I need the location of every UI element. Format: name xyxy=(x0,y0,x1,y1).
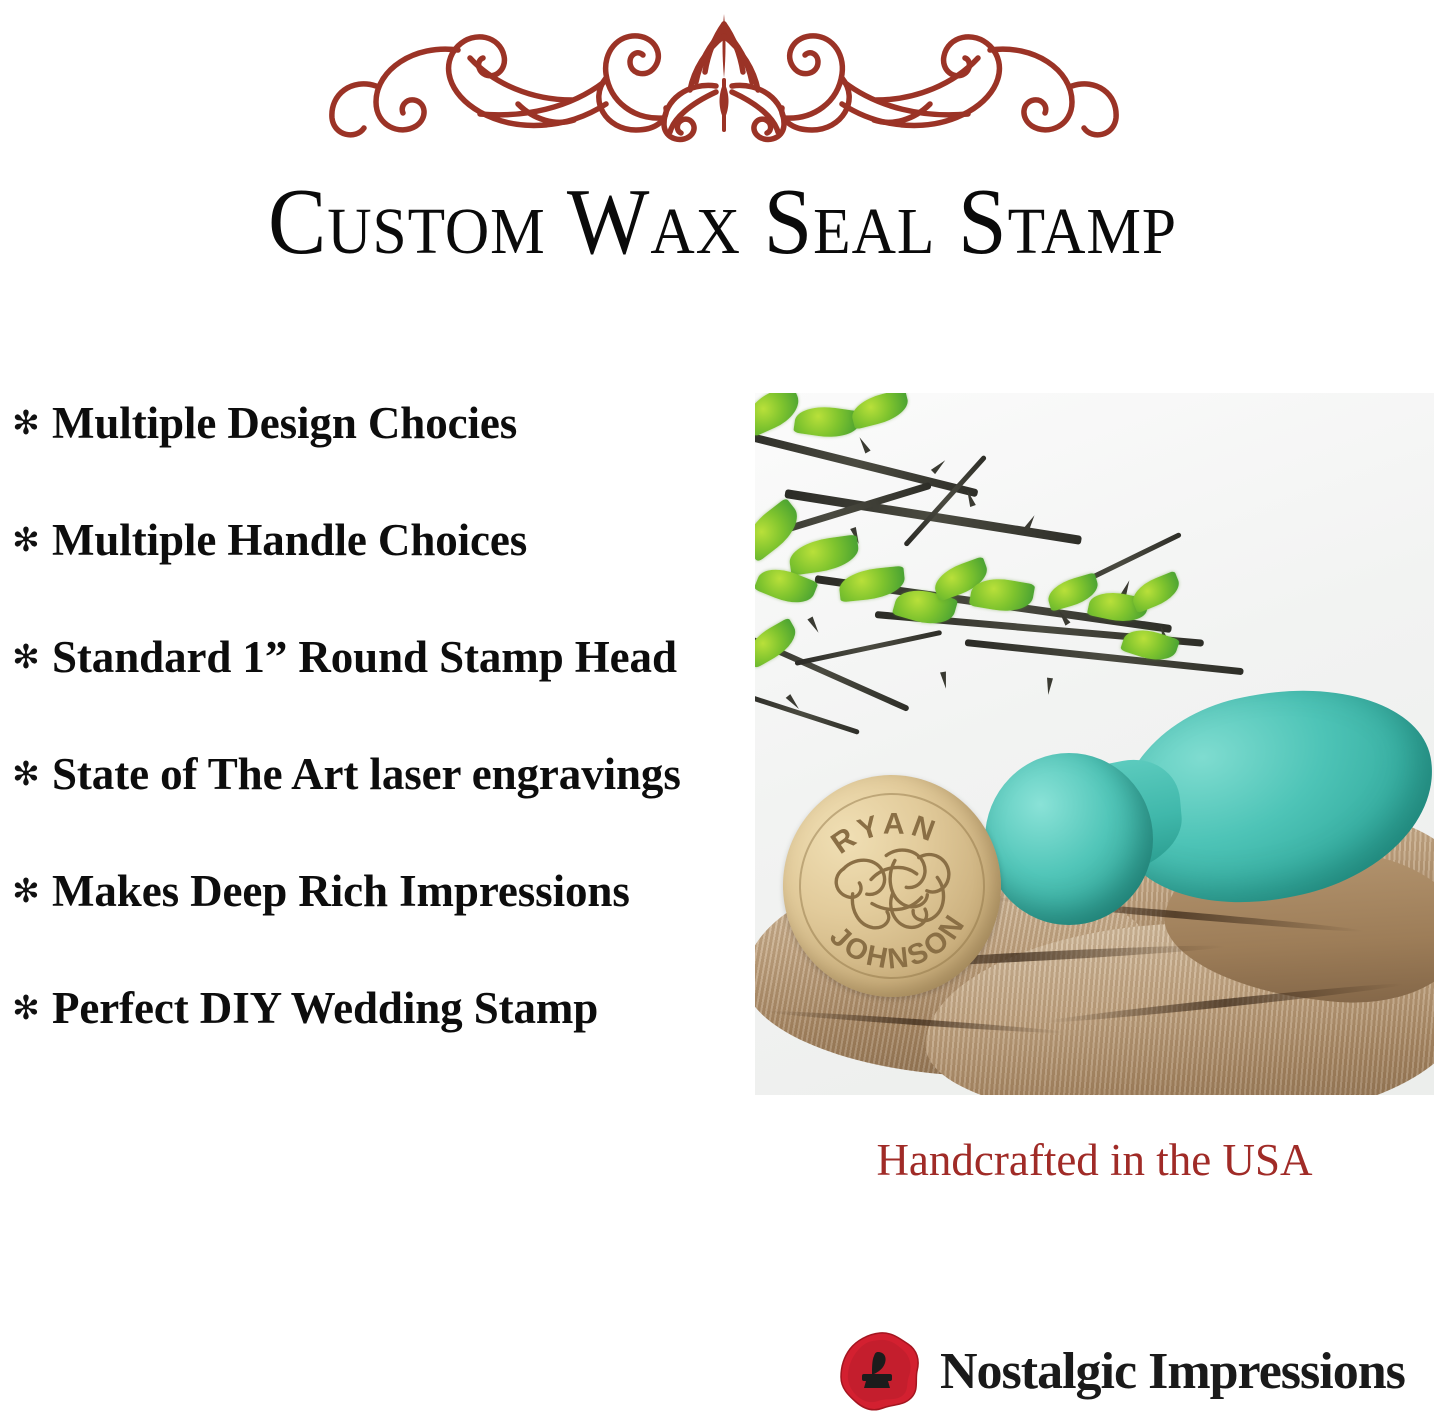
stamp-engraving: RYAN JOHNSON xyxy=(770,763,1013,1010)
asterisk-bullet-icon: ✻ xyxy=(0,991,52,1024)
feature-label: State of The Art laser engravings xyxy=(52,749,681,799)
list-item: ✻ Perfect DIY Wedding Stamp xyxy=(0,983,745,1100)
feature-label: Multiple Design Chocies xyxy=(52,398,517,448)
list-item: ✻ Multiple Design Chocies xyxy=(0,398,745,515)
filigree-flourish-icon xyxy=(318,8,1130,148)
feature-label: Perfect DIY Wedding Stamp xyxy=(52,983,598,1033)
asterisk-bullet-icon: ✻ xyxy=(0,406,52,439)
product-photo: RYAN JOHNSON xyxy=(755,393,1434,1095)
brand-footer: Nostalgic Impressions xyxy=(838,1330,1405,1414)
page-title: Custom Wax Seal Stamp xyxy=(51,168,1395,276)
feature-list: ✻ Multiple Design Chocies ✻ Multiple Han… xyxy=(0,398,745,1100)
feature-label: Standard 1” Round Stamp Head xyxy=(52,632,677,682)
stamp-head-face: RYAN JOHNSON xyxy=(770,763,1013,1010)
feature-label: Makes Deep Rich Impressions xyxy=(52,866,630,916)
asterisk-bullet-icon: ✻ xyxy=(0,874,52,907)
asterisk-bullet-icon: ✻ xyxy=(0,757,52,790)
wax-seal-logo-icon xyxy=(838,1330,922,1414)
list-item: ✻ Standard 1” Round Stamp Head xyxy=(0,632,745,749)
feature-label: Multiple Handle Choices xyxy=(52,515,527,565)
list-item: ✻ State of The Art laser engravings xyxy=(0,749,745,866)
list-item: ✻ Makes Deep Rich Impressions xyxy=(0,866,745,983)
list-item: ✻ Multiple Handle Choices xyxy=(0,515,745,632)
asterisk-bullet-icon: ✻ xyxy=(0,640,52,673)
header-ornament xyxy=(318,8,1130,148)
asterisk-bullet-icon: ✻ xyxy=(0,523,52,556)
handcrafted-caption: Handcrafted in the USA xyxy=(755,1134,1434,1186)
brand-name: Nostalgic Impressions xyxy=(940,1344,1405,1400)
engraving-bottom-text: JOHNSON xyxy=(821,905,978,984)
